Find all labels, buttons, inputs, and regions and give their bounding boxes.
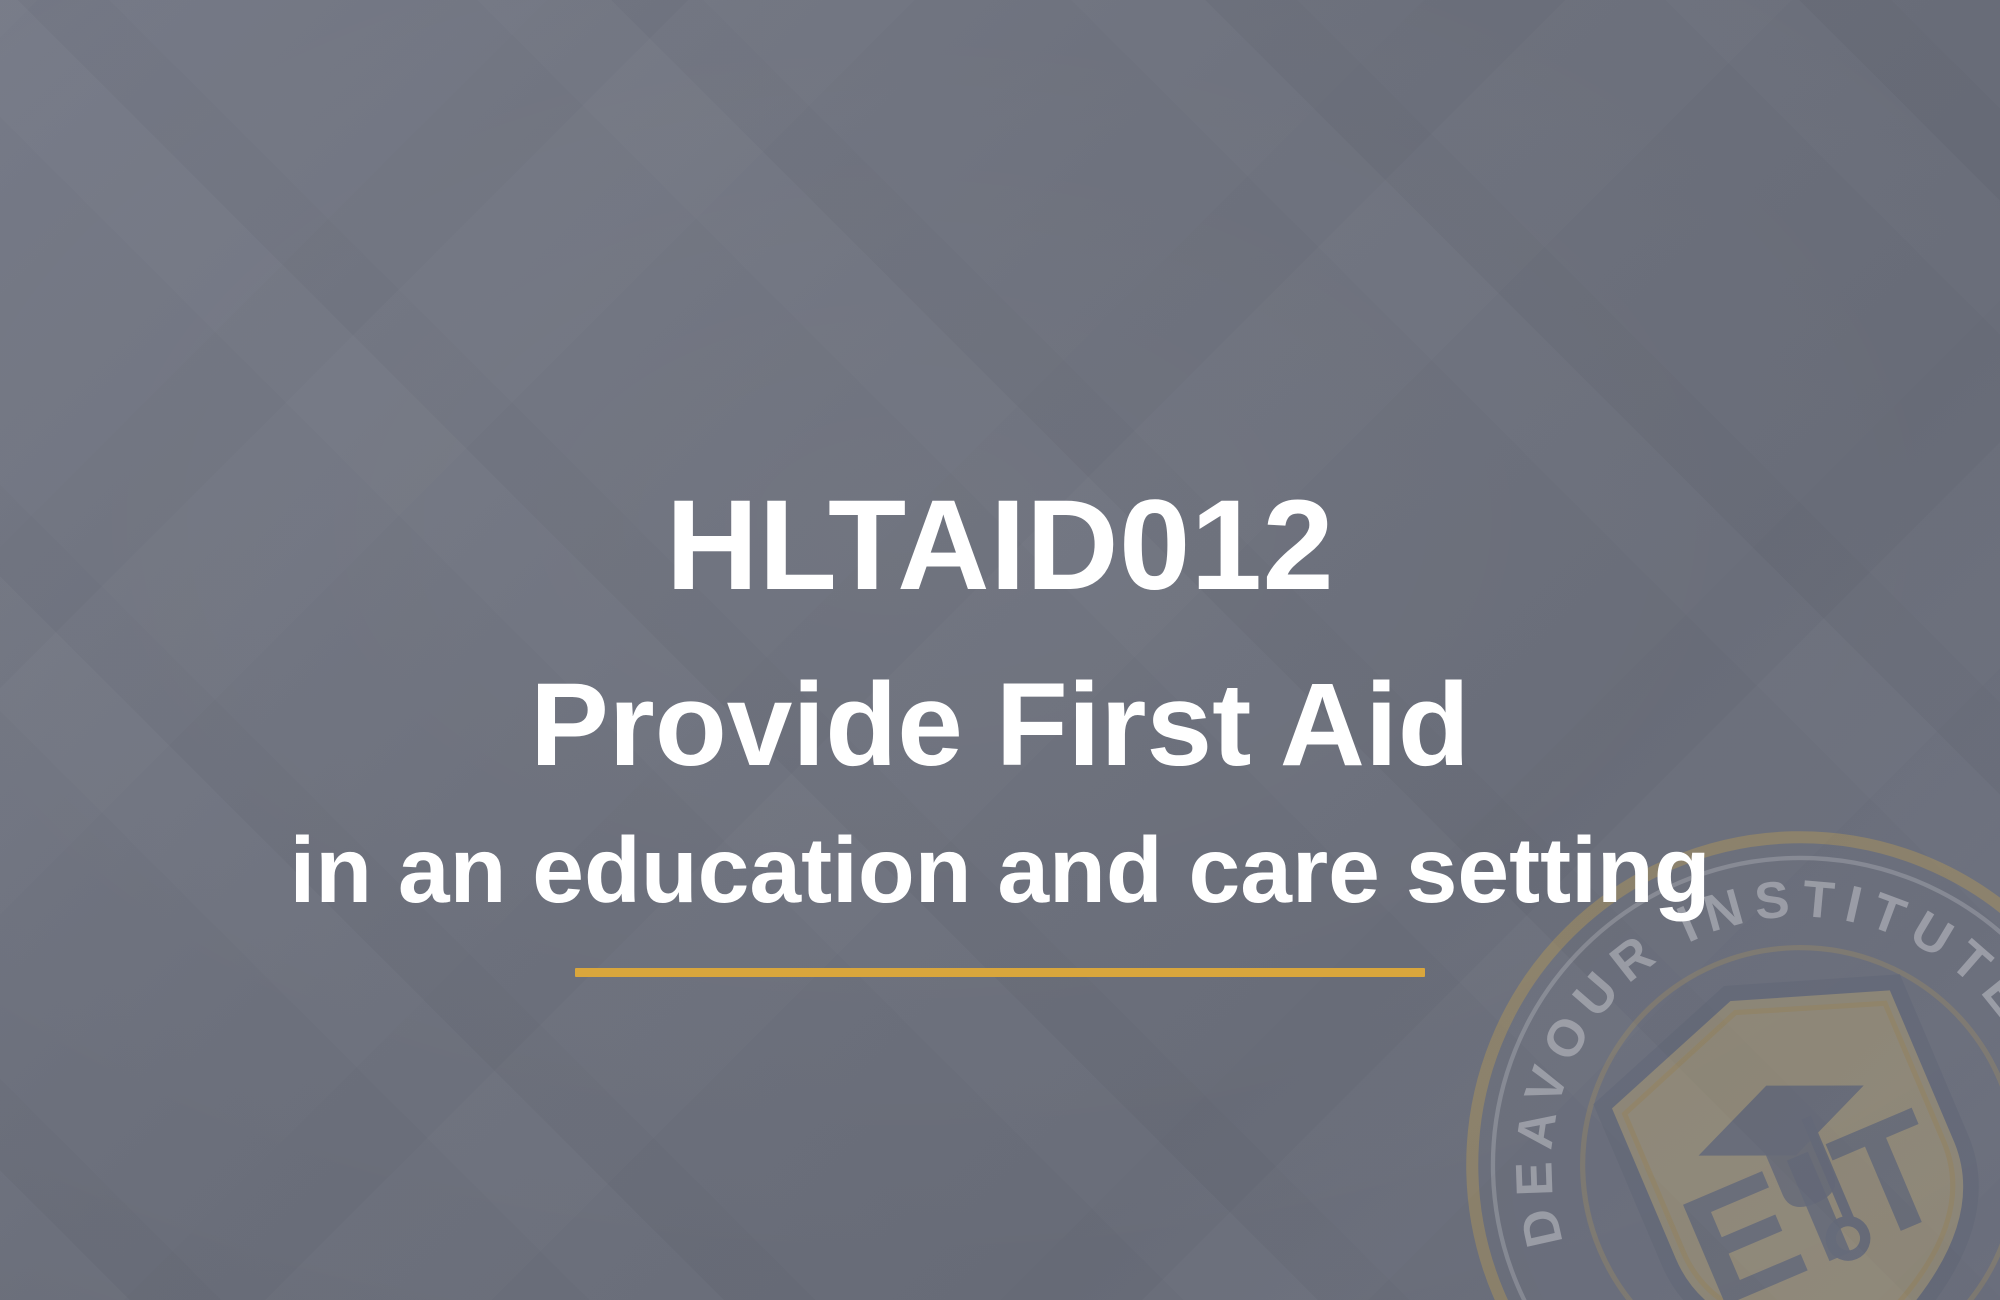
unit-code-heading: HLTAID012 bbox=[0, 482, 2000, 610]
accent-divider-container bbox=[0, 968, 2000, 977]
title-slide: ENDEAVOUR INSTITUTE OF TRAINING EIT bbox=[0, 0, 2000, 1300]
slide-content: HLTAID012 Provide First Aid in an educat… bbox=[0, 0, 2000, 1300]
unit-title-heading: Provide First Aid bbox=[0, 666, 2000, 784]
unit-context-subheading: in an education and care setting bbox=[0, 824, 2000, 917]
gold-accent-divider bbox=[575, 968, 1425, 977]
